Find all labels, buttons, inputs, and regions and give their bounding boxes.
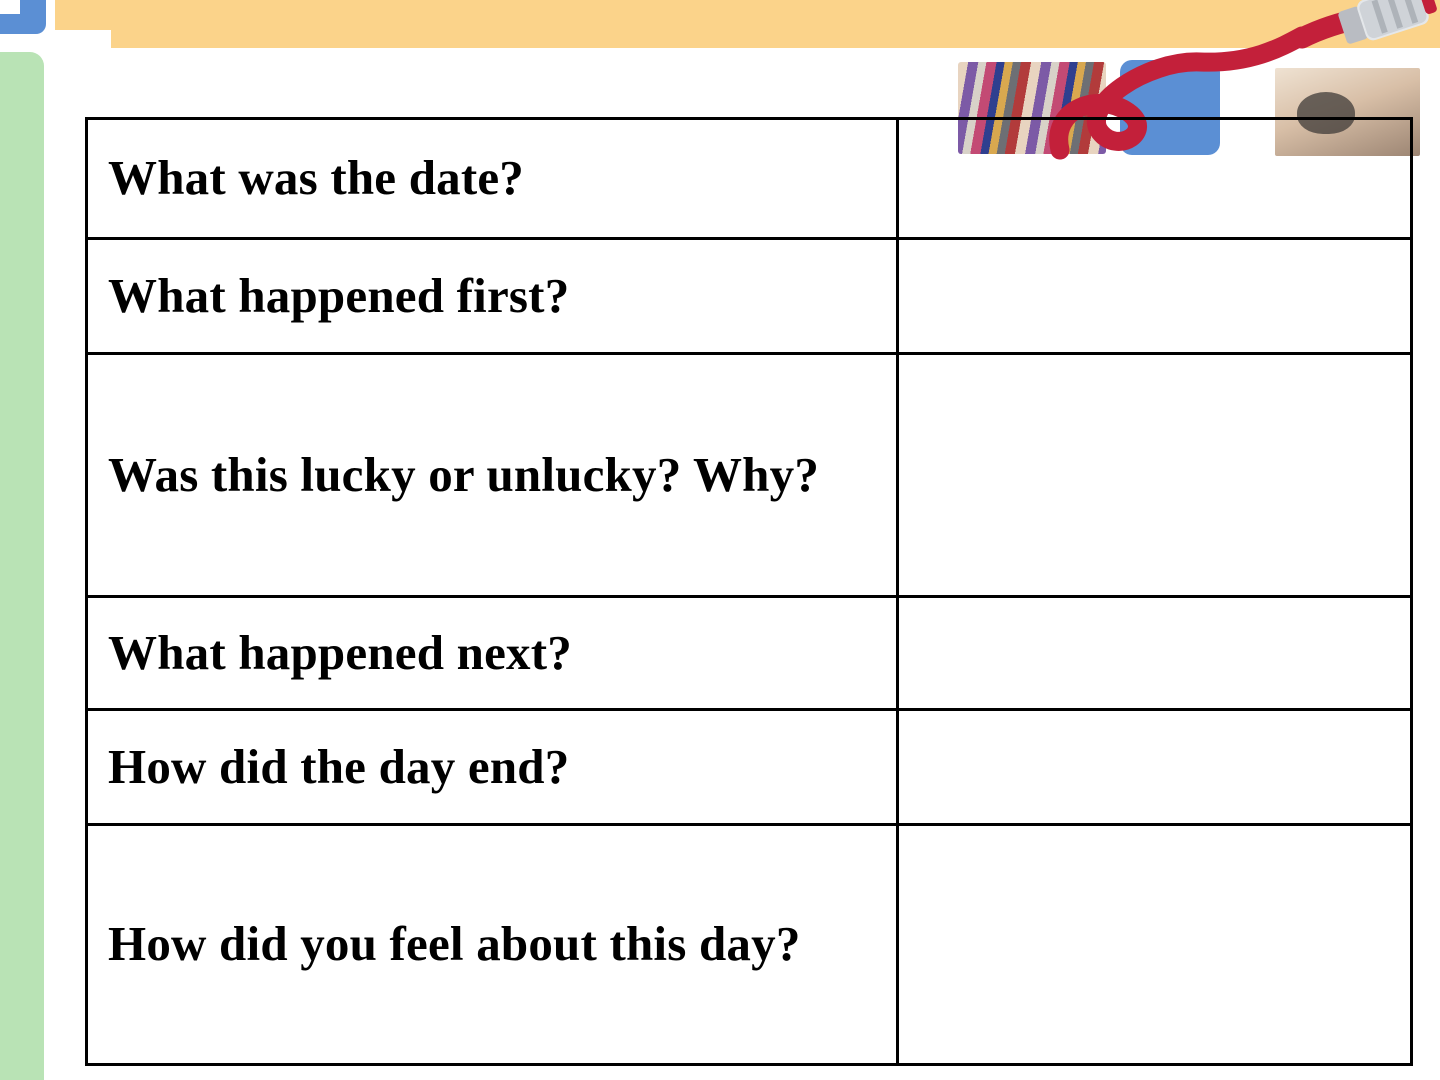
question-cell: What happened first? bbox=[87, 239, 898, 354]
top-band-cap bbox=[55, 0, 91, 30]
slide-canvas: What was the date? What happened first? … bbox=[0, 0, 1440, 1080]
question-cell: What was the date? bbox=[87, 119, 898, 239]
answer-text bbox=[899, 169, 1410, 189]
answer-text bbox=[899, 757, 1410, 777]
answer-text bbox=[899, 286, 1410, 306]
corner-blue-accent bbox=[0, 0, 46, 34]
answer-text bbox=[899, 643, 1410, 663]
table-row: What happened next? bbox=[87, 597, 1412, 710]
left-green-band bbox=[0, 52, 44, 1080]
question-text: What happened first? bbox=[88, 254, 896, 339]
answer-cell[interactable] bbox=[898, 119, 1412, 239]
question-text: What happened next? bbox=[88, 611, 896, 696]
answer-text bbox=[899, 935, 1410, 955]
answer-cell[interactable] bbox=[898, 597, 1412, 710]
question-text: Was this lucky or unlucky? Why? bbox=[88, 433, 896, 518]
left-band-gap bbox=[44, 52, 58, 1080]
answer-cell[interactable] bbox=[898, 239, 1412, 354]
question-text: How did the day end? bbox=[88, 725, 896, 810]
corner-blue-notch bbox=[0, 0, 20, 14]
top-band-notch bbox=[55, 30, 111, 48]
question-text: What was the date? bbox=[88, 136, 896, 221]
question-cell: Was this lucky or unlucky? Why? bbox=[87, 354, 898, 597]
table-row: What was the date? bbox=[87, 119, 1412, 239]
answer-text bbox=[899, 465, 1410, 485]
answer-cell[interactable] bbox=[898, 710, 1412, 825]
table-row: How did the day end? bbox=[87, 710, 1412, 825]
table-row: What happened first? bbox=[87, 239, 1412, 354]
answer-cell[interactable] bbox=[898, 825, 1412, 1065]
question-cell: What happened next? bbox=[87, 597, 898, 710]
table-row: How did you feel about this day? bbox=[87, 825, 1412, 1065]
question-cell: How did you feel about this day? bbox=[87, 825, 898, 1065]
table-row: Was this lucky or unlucky? Why? bbox=[87, 354, 1412, 597]
question-text: How did you feel about this day? bbox=[88, 902, 896, 987]
question-cell: How did the day end? bbox=[87, 710, 898, 825]
answer-cell[interactable] bbox=[898, 354, 1412, 597]
questions-table: What was the date? What happened first? … bbox=[85, 117, 1413, 1066]
